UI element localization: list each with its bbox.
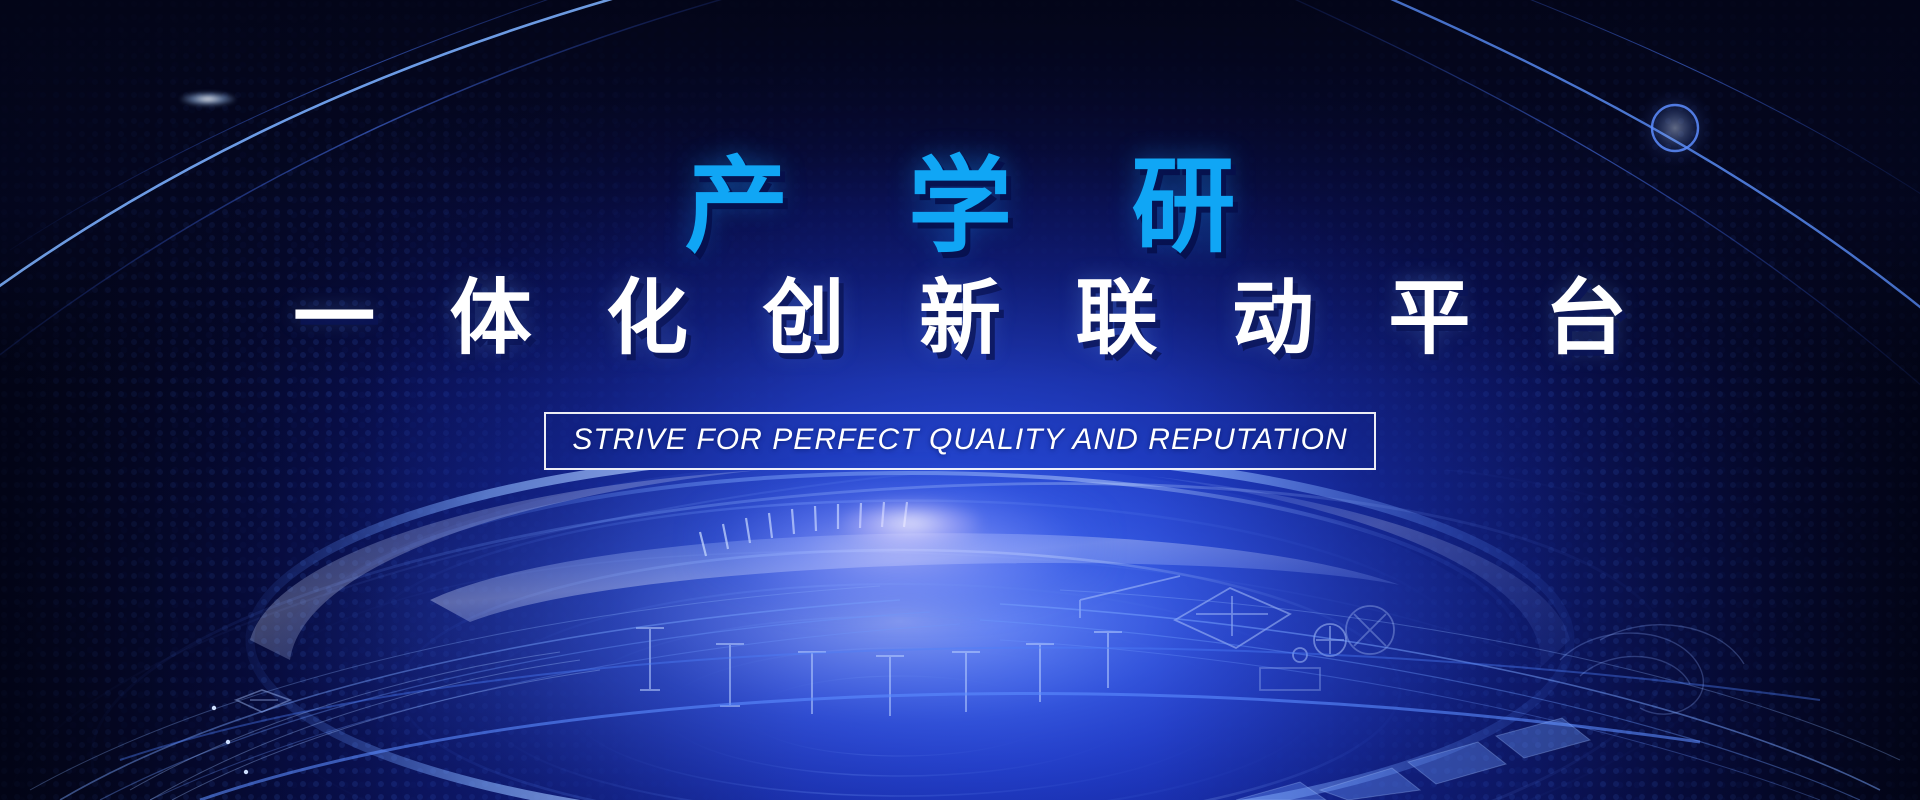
subtitle-text: STRIVE FOR PERFECT QUALITY AND REPUTATIO…	[572, 423, 1347, 457]
banner-content: 产 学 研 一 体 化 创 新 联 动 平 台 STRIVE FOR PERFE…	[0, 0, 1920, 800]
subtitle-box: STRIVE FOR PERFECT QUALITY AND REPUTATIO…	[544, 412, 1375, 470]
hero-banner: 产 学 研 一 体 化 创 新 联 动 平 台 STRIVE FOR PERFE…	[0, 0, 1920, 800]
page-title-primary: 产 学 研	[643, 152, 1277, 260]
page-title-secondary: 一 体 化 创 新 联 动 平 台	[270, 274, 1650, 364]
